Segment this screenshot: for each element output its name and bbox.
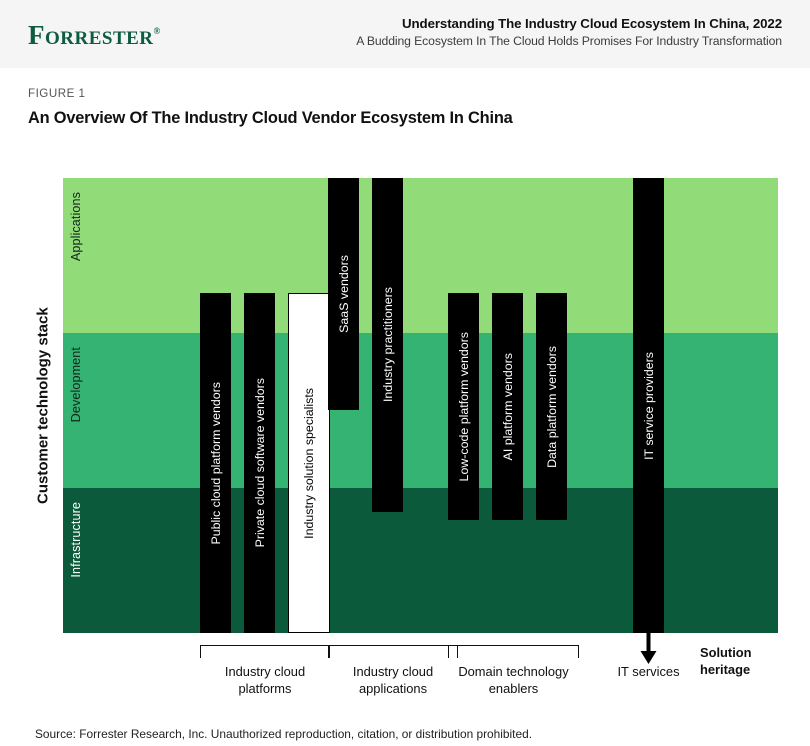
bar-data-platform-vendors[interactable]: Data platform vendors	[536, 293, 567, 520]
report-header: Forrester® Understanding The Industry Cl…	[0, 0, 810, 68]
group-label-line2: enablers	[429, 681, 599, 698]
source-note: Source: Forrester Research, Inc. Unautho…	[35, 727, 532, 741]
bar-label: Data platform vendors	[545, 346, 559, 468]
x-axis-title-line2: heritage	[700, 662, 800, 679]
report-header-text: Understanding The Industry Cloud Ecosyst…	[242, 14, 782, 51]
band-applications: Applications	[63, 178, 778, 333]
forrester-logo: Forrester®	[28, 22, 161, 49]
figure-page: Forrester® Understanding The Industry Cl…	[0, 0, 810, 746]
chart-plot-area: ApplicationsDevelopmentInfrastructurePub…	[63, 178, 778, 633]
bracket-domain-technology-enablers	[448, 645, 579, 658]
bar-ai-platform-vendors[interactable]: AI platform vendors	[492, 293, 523, 520]
bar-label: SaaS vendors	[337, 255, 351, 333]
bar-it-service-providers[interactable]: IT service providers	[633, 178, 664, 633]
band-infrastructure: Infrastructure	[63, 488, 778, 633]
bar-industry-practitioners[interactable]: Industry practitioners	[372, 178, 403, 512]
bar-label: Private cloud software vendors	[253, 378, 267, 547]
bar-label: Public cloud platform vendors	[209, 382, 223, 545]
bar-low-code-platform-vendors[interactable]: Low-code platform vendors	[448, 293, 479, 520]
bar-saas-vendors[interactable]: SaaS vendors	[328, 178, 359, 410]
x-axis-title-line1: Solution	[700, 645, 800, 662]
bar-label: Industry solution specialists	[302, 388, 316, 539]
bar-label: Low-code platform vendors	[457, 332, 471, 481]
bar-private-cloud-software-vendors[interactable]: Private cloud software vendors	[244, 293, 275, 633]
bracket-industry-cloud-platforms	[200, 645, 330, 658]
band-label-development: Development	[69, 347, 83, 422]
report-title: Understanding The Industry Cloud Ecosyst…	[242, 14, 782, 33]
registered-trademark-icon: ®	[154, 26, 161, 36]
figure-title: An Overview Of The Industry Cloud Vendor…	[28, 109, 513, 128]
x-axis-title: Solution heritage	[700, 645, 800, 678]
arrow-head-icon	[641, 651, 657, 664]
logo-wordmark: Forrester	[28, 20, 154, 50]
y-axis-title: Customer technology stack	[30, 178, 56, 633]
bar-industry-solution-specialists[interactable]: Industry solution specialists	[288, 293, 330, 633]
band-label-infrastructure: Infrastructure	[69, 502, 83, 578]
bar-label: IT service providers	[642, 352, 656, 460]
bar-label: AI platform vendors	[501, 353, 515, 460]
report-subtitle: A Budding Ecosystem In The Cloud Holds P…	[242, 33, 782, 51]
bar-label: Industry practitioners	[381, 287, 395, 402]
band-label-applications: Applications	[69, 192, 83, 261]
bracket-industry-cloud-applications	[328, 645, 458, 658]
bar-public-cloud-platform-vendors[interactable]: Public cloud platform vendors	[200, 293, 231, 633]
figure-number: FIGURE 1	[28, 87, 85, 100]
band-development: Development	[63, 333, 778, 488]
